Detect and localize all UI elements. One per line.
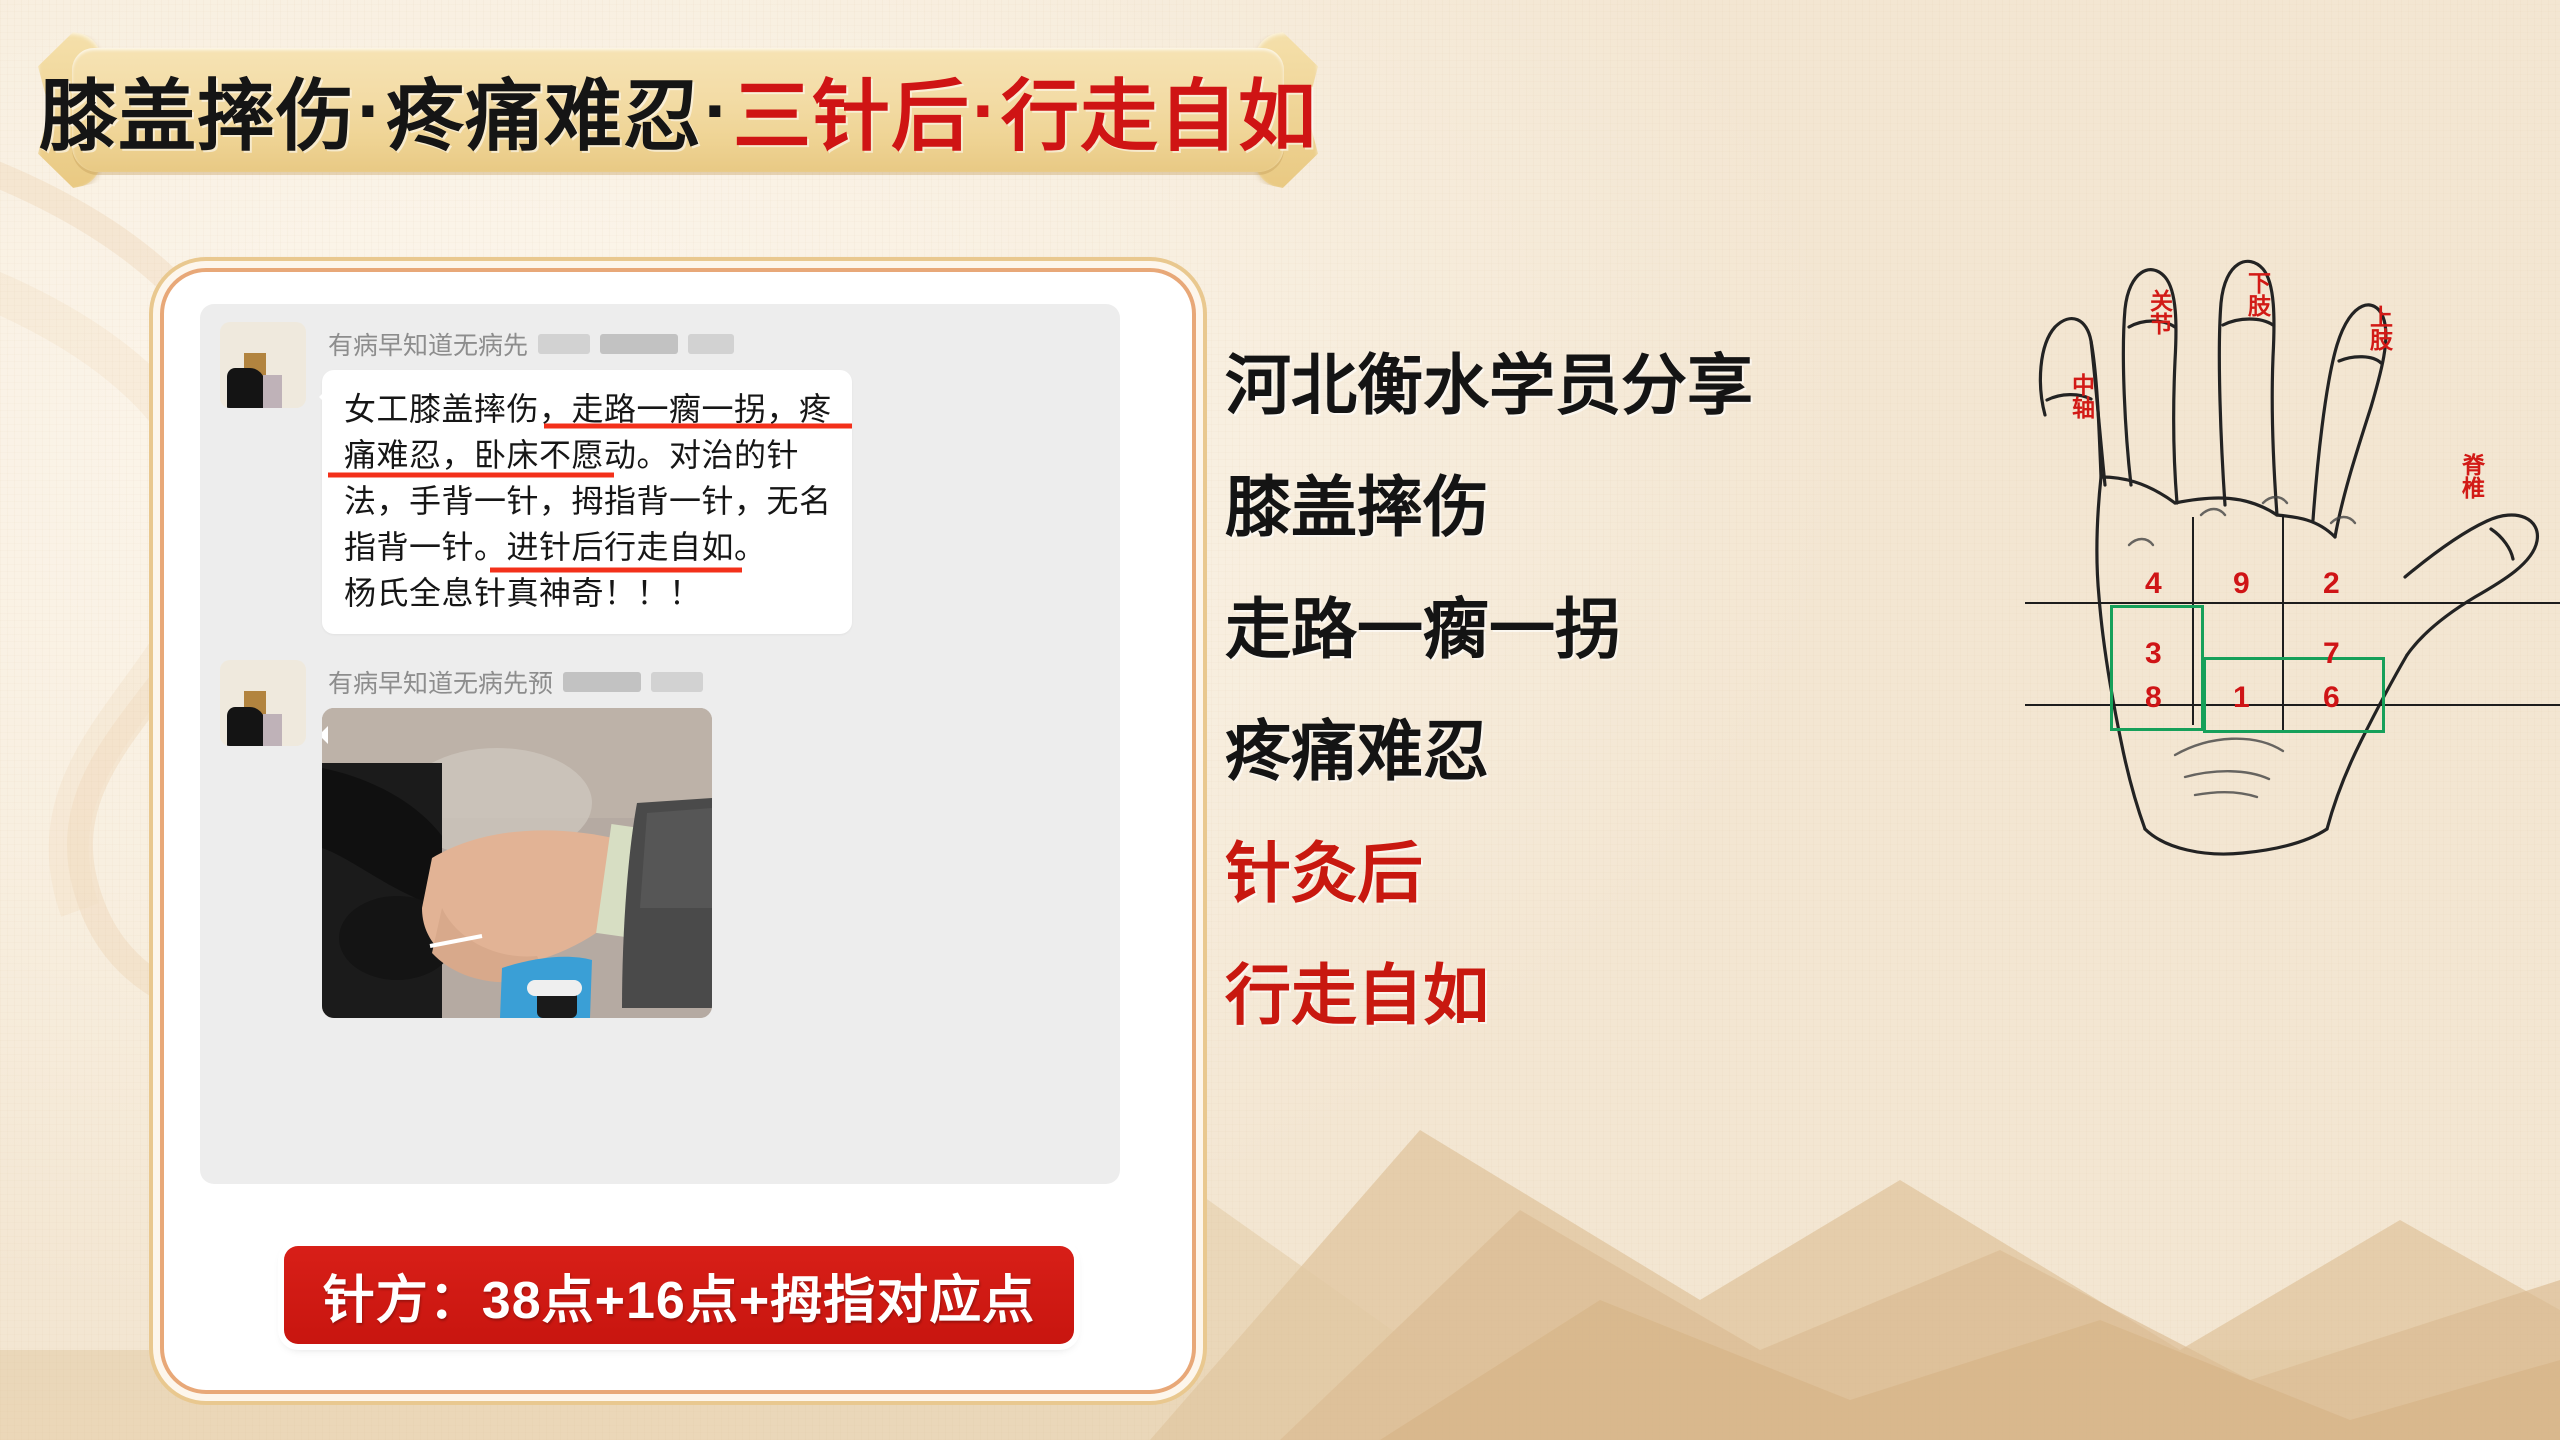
hand-outline-drawing <box>2025 185 2560 885</box>
hand-label-guanjie: 关节 <box>2147 289 2170 335</box>
hand-label-shangzhi: 上肢 <box>2367 305 2390 351</box>
hand-label-jizhui: 脊椎 <box>2459 453 2482 499</box>
chat-line-1-text: 女工膝盖摔伤，走路一瘸一拐，疼 <box>344 391 832 427</box>
chat-line-3: 法，手背一针，拇指背一针，无名 <box>344 478 832 524</box>
testimonial-card: 有病早知道无病先 女工膝盖摔伤，走路一瘸一拐，疼 痛难忍，卧床不愿动。对治的针 <box>160 268 1196 1394</box>
summary-text-column: 河北衡水学员分享 膝盖摔伤 走路一瘸一拐 疼痛难忍 针灸后 行走自如 <box>1225 352 1985 1084</box>
summary-line-1: 河北衡水学员分享 <box>1225 352 1985 418</box>
redacted-block <box>600 334 678 354</box>
chat-sender-name-row: 有病早知道无病先 <box>328 326 1100 362</box>
chat-line-3-text: 法，手背一针，拇指背一针，无名 <box>344 483 832 519</box>
chat-line-5: 杨氏全息针真神奇！！！ <box>344 570 832 616</box>
summary-line-6: 行走自如 <box>1225 962 1985 1028</box>
hand-zone-8: 8 <box>2145 681 2162 715</box>
hand-holography-diagram: 中轴 关节 下肢 上肢 脊椎 4 9 2 3 7 8 1 6 <box>2025 185 2560 885</box>
chat-sender-name-row-2: 有病早知道无病先预 <box>328 664 1100 700</box>
redacted-block <box>563 672 641 692</box>
highlight-box-right <box>2203 657 2385 733</box>
chat-line-4: 指背一针。进针后行走自如。 <box>344 524 832 570</box>
chat-screenshot: 有病早知道无病先 女工膝盖摔伤，走路一瘸一拐，疼 痛难忍，卧床不愿动。对治的针 <box>200 304 1120 1184</box>
hand-label-zhongzhou: 中轴 <box>2069 373 2092 419</box>
title-segment-1: 膝盖摔伤 <box>39 54 355 166</box>
summary-line-4: 疼痛难忍 <box>1225 718 1985 784</box>
prescription-label: 针方：38点+16点+拇指对应点 <box>323 1258 1035 1333</box>
chat-line-2-text: 痛难忍，卧床不愿动。对治的针 <box>344 437 799 473</box>
title-separator-2: · <box>702 65 733 156</box>
acupuncture-photo[interactable] <box>322 708 712 1018</box>
title-separator-3: · <box>970 65 1001 156</box>
hand-zone-1: 1 <box>2233 681 2250 715</box>
avatar <box>220 660 306 746</box>
redacted-block <box>688 334 734 354</box>
chat-message-photo: 有病早知道无病先预 <box>220 660 1100 1023</box>
summary-line-5: 针灸后 <box>1225 840 1985 906</box>
hand-zone-4: 4 <box>2145 567 2162 601</box>
hand-zone-7: 7 <box>2323 637 2340 671</box>
testimonial-card-inner: 有病早知道无病先 女工膝盖摔伤，走路一瘸一拐，疼 痛难忍，卧床不愿动。对治的针 <box>174 282 1182 1380</box>
title-separator-1: · <box>355 65 386 156</box>
redacted-block <box>538 334 590 354</box>
chat-line-4-text: 指背一针。进针后行走自如。 <box>344 529 767 565</box>
prescription-banner: 针方：38点+16点+拇指对应点 <box>284 1246 1074 1344</box>
hand-zone-9: 9 <box>2233 567 2250 601</box>
title-segment-2: 疼痛难忍 <box>386 54 702 166</box>
avatar <box>220 322 306 408</box>
chat-message-text: 有病早知道无病先 女工膝盖摔伤，走路一瘸一拐，疼 痛难忍，卧床不愿动。对治的针 <box>220 322 1100 634</box>
chat-line-2: 痛难忍，卧床不愿动。对治的针 <box>344 432 832 478</box>
page-title: 膝盖摔伤 · 疼痛难忍 · 三针后 · 行走自如 <box>72 48 1284 172</box>
hand-zone-6: 6 <box>2323 681 2340 715</box>
summary-line-3: 走路一瘸一拐 <box>1225 596 1985 662</box>
chat-sender-name: 有病早知道无病先 <box>328 326 528 362</box>
chat-photo-bubble[interactable] <box>322 708 712 1018</box>
chat-sender-name-2: 有病早知道无病先预 <box>328 664 553 700</box>
chat-line-1: 女工膝盖摔伤，走路一瘸一拐，疼 <box>344 386 832 432</box>
title-segment-4: 行走自如 <box>1001 54 1317 166</box>
chat-line-5-text: 杨氏全息针真神奇！！！ <box>344 575 702 611</box>
hand-zone-2: 2 <box>2323 567 2340 601</box>
hand-zone-3: 3 <box>2145 637 2162 671</box>
chat-bubble: 女工膝盖摔伤，走路一瘸一拐，疼 痛难忍，卧床不愿动。对治的针 法，手背一针，拇指… <box>322 370 852 634</box>
title-segment-3: 三针后 <box>733 54 970 166</box>
title-banner: 膝盖摔伤 · 疼痛难忍 · 三针后 · 行走自如 <box>72 48 1284 172</box>
redacted-block <box>651 672 703 692</box>
summary-line-2: 膝盖摔伤 <box>1225 474 1985 540</box>
hand-label-xiazhi: 下肢 <box>2245 271 2268 317</box>
